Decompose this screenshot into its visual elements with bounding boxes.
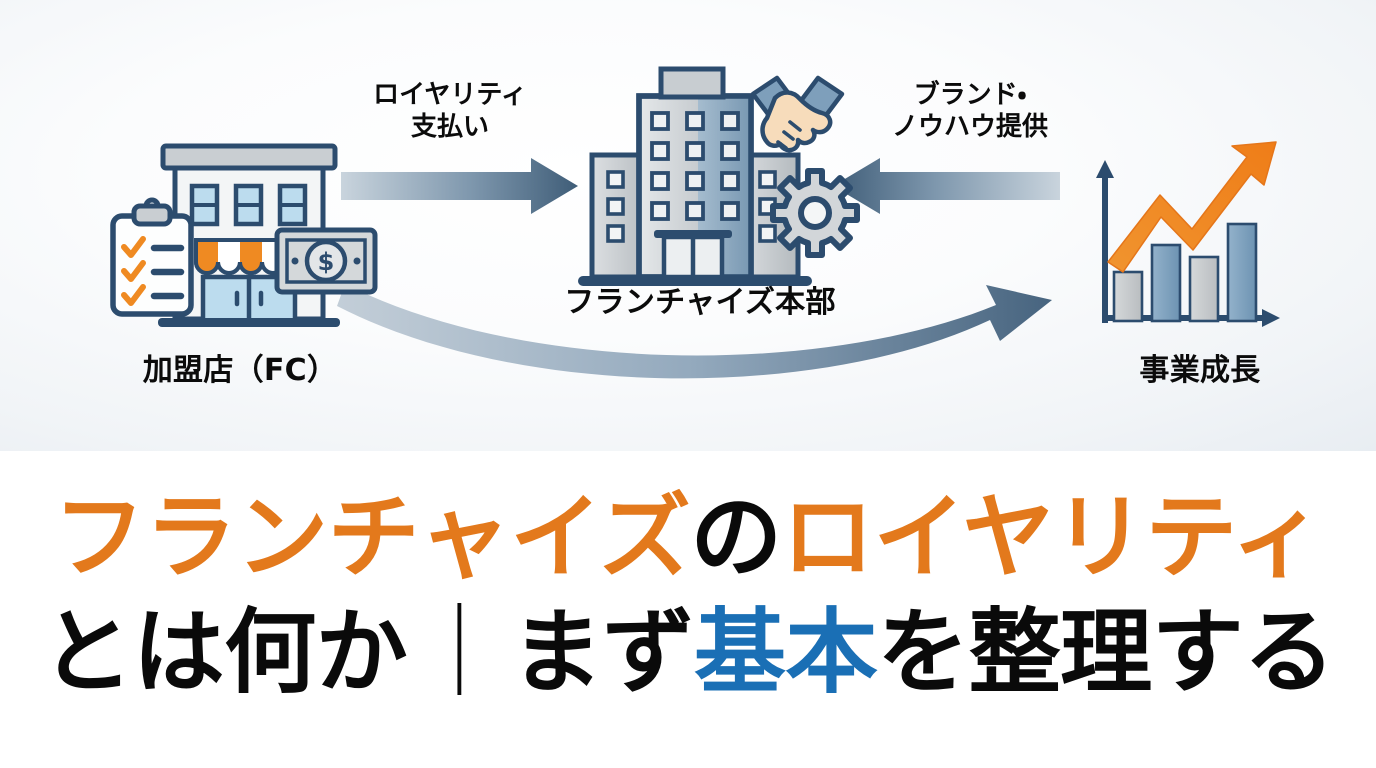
chart-bar-4	[1228, 224, 1256, 321]
node-label-headquarters: フランチャイズ本部	[540, 288, 860, 318]
arrow-royalty-payment	[341, 158, 578, 214]
title-line-2-segment-1: とは何か	[41, 599, 407, 706]
arrow-caption-royalty-line1: ロイヤリティ	[300, 80, 600, 112]
page-root: $	[0, 0, 1376, 768]
chart-bar-3	[1190, 257, 1218, 321]
arrow-caption-brand-line1: ブランド・	[820, 80, 1120, 112]
arrow-caption-brand-line2: ノウハウ提供	[820, 112, 1120, 144]
title-line-2-highlight: 基本	[694, 599, 877, 706]
chart-bar-1	[1114, 272, 1142, 321]
title-line-1-segment-2: の	[690, 484, 782, 591]
clipboard-checklist-icon	[113, 200, 191, 314]
title-line-2-segment-2: まず	[511, 599, 694, 706]
svg-text:$: $	[318, 248, 335, 276]
arrow-caption-royalty-line2: 支払い	[300, 112, 600, 144]
arrow-brand-knowhow	[833, 158, 1060, 214]
gear-icon	[773, 171, 857, 255]
arrow-caption-brand: ブランド・ ノウハウ提供	[820, 80, 1120, 143]
title-line-2-segment-3: を整理する	[877, 599, 1335, 706]
chart-bar-2	[1152, 245, 1180, 321]
title-block: フランチャイズのロイヤリティ とは何か｜まず基本を整理する	[0, 451, 1376, 768]
node-label-franchisee: 加盟店（FC）	[80, 356, 400, 386]
franchise-diagram-panel: $	[0, 0, 1376, 451]
dollar-bill-icon: $	[277, 230, 375, 292]
node-label-business-growth: 事業成長	[1050, 356, 1350, 386]
arrow-caption-royalty: ロイヤリティ 支払い	[300, 80, 600, 143]
title-line-1-segment-1: フランチャイズ	[53, 484, 690, 591]
title-line-1: フランチャイズのロイヤリティ	[0, 492, 1376, 584]
title-separator: ｜	[407, 599, 511, 706]
growth-chart-icon	[1096, 142, 1280, 327]
title-line-1-segment-3: ロイヤリティ	[782, 484, 1323, 591]
title-line-2: とは何か｜まず基本を整理する	[0, 607, 1376, 699]
